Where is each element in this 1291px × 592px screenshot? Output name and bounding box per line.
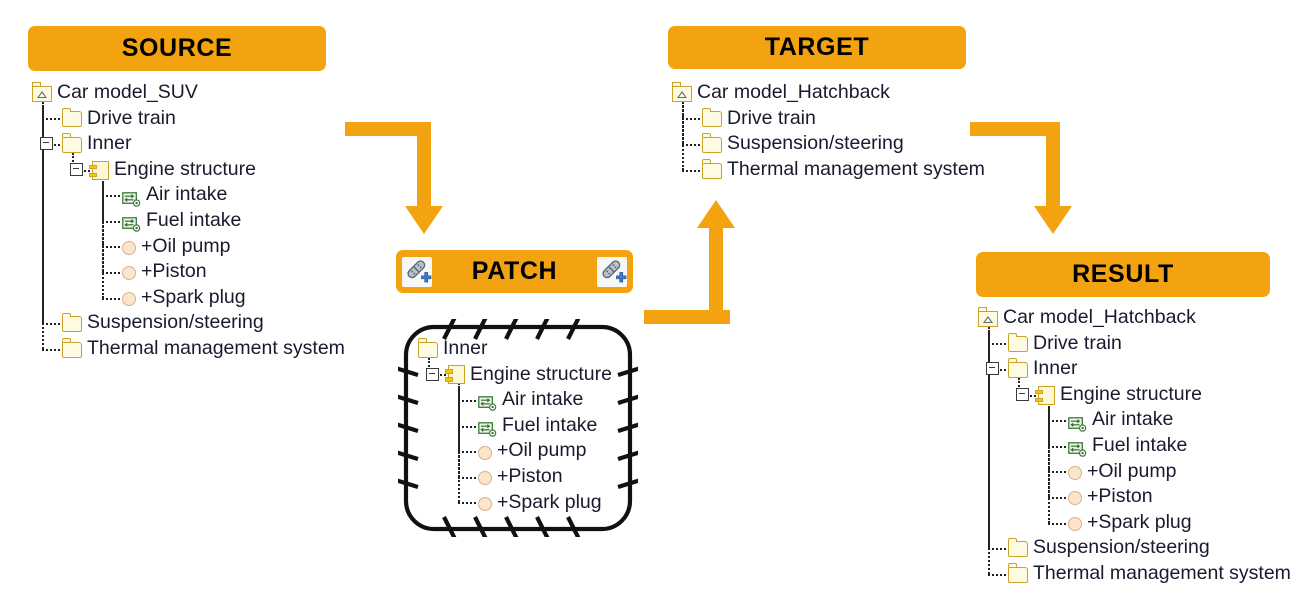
- tree-item-label: Car model_SUV: [57, 80, 198, 106]
- port-icon: [1068, 439, 1087, 454]
- target-banner: TARGET: [668, 26, 966, 69]
- arrow-patch-to-target: [644, 198, 754, 324]
- tree-item-label: Fuel intake: [1092, 433, 1187, 459]
- tree-item[interactable]: Inner: [32, 131, 345, 157]
- tree-item-label: Drive train: [87, 106, 176, 132]
- tree-item-label: Fuel intake: [146, 208, 241, 234]
- model-folder-icon: [978, 311, 998, 327]
- tree-item[interactable]: Engine structure: [978, 382, 1291, 408]
- tree-item[interactable]: Thermal management system: [978, 561, 1291, 587]
- tree-item[interactable]: +Piston: [978, 484, 1291, 510]
- tree-item-label: +Spark plug: [1087, 510, 1192, 536]
- collapse-expander-icon[interactable]: [986, 362, 999, 375]
- tree-item-label: +Piston: [497, 464, 563, 490]
- circle-icon: [478, 471, 492, 485]
- circle-icon: [1068, 466, 1082, 480]
- circle-icon: [1068, 491, 1082, 505]
- tree-item[interactable]: +Oil pump: [32, 234, 345, 260]
- folder-icon: [1008, 567, 1028, 583]
- circle-icon: [122, 292, 136, 306]
- target-tree: Car model_HatchbackDrive trainSuspension…: [672, 80, 985, 182]
- tree-item-label: Air intake: [1092, 407, 1173, 433]
- folder-icon: [62, 342, 82, 358]
- circle-icon: [1068, 517, 1082, 531]
- tree-item[interactable]: Suspension/steering: [978, 535, 1291, 561]
- tree-item[interactable]: +Piston: [32, 259, 345, 285]
- circle-icon: [122, 241, 136, 255]
- tree-item-label: +Spark plug: [497, 490, 602, 516]
- tree-item-label: Car model_Hatchback: [697, 80, 890, 106]
- tree-item-label: Thermal management system: [87, 336, 345, 362]
- tree-item-label: +Piston: [1087, 484, 1153, 510]
- target-banner-label: TARGET: [765, 33, 870, 62]
- tree-item-label: Engine structure: [470, 362, 612, 388]
- folder-icon: [418, 342, 438, 358]
- tree-item[interactable]: Engine structure: [418, 362, 612, 388]
- port-icon: [122, 214, 141, 229]
- tree-item-label: Inner: [1033, 356, 1077, 382]
- circle-icon: [478, 446, 492, 460]
- arrow-target-to-result: [970, 122, 1090, 242]
- component-icon: [1038, 386, 1055, 405]
- source-tree: Car model_SUVDrive trainInnerEngine stru…: [32, 80, 345, 362]
- tree-item[interactable]: Fuel intake: [978, 433, 1291, 459]
- patch-banner-label: PATCH: [472, 257, 557, 286]
- tree-item-label: Engine structure: [114, 157, 256, 183]
- tree-item[interactable]: Drive train: [672, 106, 985, 132]
- tree-item-label: Drive train: [727, 106, 816, 132]
- tree-item[interactable]: +Spark plug: [32, 285, 345, 311]
- tree-item[interactable]: Thermal management system: [672, 157, 985, 183]
- collapse-expander-icon[interactable]: [70, 163, 83, 176]
- folder-icon: [702, 137, 722, 153]
- tree-item[interactable]: +Oil pump: [978, 459, 1291, 485]
- source-banner-label: SOURCE: [122, 34, 233, 63]
- port-icon: [122, 189, 141, 204]
- port-icon: [1068, 414, 1087, 429]
- tree-item-label: Car model_Hatchback: [1003, 305, 1196, 331]
- tree-item-label: +Oil pump: [141, 234, 230, 260]
- tree-item[interactable]: Engine structure: [32, 157, 345, 183]
- collapse-expander-icon[interactable]: [426, 368, 439, 381]
- tree-item[interactable]: Fuel intake: [32, 208, 345, 234]
- patch-tree: InnerEngine structureAir intakeFuel inta…: [418, 336, 612, 515]
- tree-item[interactable]: Drive train: [32, 106, 345, 132]
- tree-item[interactable]: +Oil pump: [418, 438, 612, 464]
- tree-item[interactable]: Drive train: [978, 331, 1291, 357]
- tree-item[interactable]: Suspension/steering: [32, 310, 345, 336]
- tree-item-label: Suspension/steering: [727, 131, 904, 157]
- tree-item-label: Air intake: [502, 387, 583, 413]
- tree-item-label: Thermal management system: [1033, 561, 1291, 587]
- tree-item[interactable]: Suspension/steering: [672, 131, 985, 157]
- bandage-plus-icon-left: [402, 257, 432, 287]
- tree-item[interactable]: Car model_Hatchback: [978, 305, 1291, 331]
- tree-item[interactable]: Air intake: [32, 182, 345, 208]
- tree-item[interactable]: Air intake: [418, 387, 612, 413]
- arrow-source-to-patch: [345, 122, 455, 242]
- tree-item-label: Drive train: [1033, 331, 1122, 357]
- result-tree: Car model_HatchbackDrive trainInnerEngin…: [978, 305, 1291, 587]
- tree-item-label: +Spark plug: [141, 285, 246, 311]
- collapse-expander-icon[interactable]: [1016, 388, 1029, 401]
- model-folder-icon: [32, 86, 52, 102]
- tree-item-label: +Oil pump: [497, 438, 586, 464]
- tree-item-label: Thermal management system: [727, 157, 985, 183]
- folder-icon: [62, 316, 82, 332]
- model-folder-icon: [672, 86, 692, 102]
- tree-item[interactable]: Car model_Hatchback: [672, 80, 985, 106]
- tree-item[interactable]: Thermal management system: [32, 336, 345, 362]
- bandage-plus-icon-right: [597, 257, 627, 287]
- result-banner-label: RESULT: [1072, 260, 1174, 289]
- source-banner: SOURCE: [28, 26, 326, 71]
- tree-item-label: +Piston: [141, 259, 207, 285]
- patch-banner: PATCH: [396, 250, 633, 293]
- folder-icon: [702, 111, 722, 127]
- folder-icon: [62, 137, 82, 153]
- tree-item-label: Air intake: [146, 182, 227, 208]
- folder-icon: [702, 163, 722, 179]
- tree-item-label: Fuel intake: [502, 413, 597, 439]
- collapse-expander-icon[interactable]: [40, 137, 53, 150]
- tree-item[interactable]: +Spark plug: [978, 510, 1291, 536]
- circle-icon: [478, 497, 492, 511]
- tree-item-label: Engine structure: [1060, 382, 1202, 408]
- folder-icon: [1008, 541, 1028, 557]
- tree-item-label: +Oil pump: [1087, 459, 1176, 485]
- result-banner: RESULT: [976, 252, 1270, 297]
- circle-icon: [122, 266, 136, 280]
- tree-item-label: Inner: [443, 336, 487, 362]
- tree-item[interactable]: +Spark plug: [418, 490, 612, 516]
- tree-item[interactable]: Air intake: [978, 407, 1291, 433]
- tree-item-label: Inner: [87, 131, 131, 157]
- component-icon: [448, 365, 465, 384]
- port-icon: [478, 419, 497, 434]
- tree-item[interactable]: Inner: [978, 356, 1291, 382]
- tree-item-label: Suspension/steering: [1033, 535, 1210, 561]
- tree-item[interactable]: Car model_SUV: [32, 80, 345, 106]
- component-icon: [92, 161, 109, 180]
- tree-item[interactable]: Inner: [418, 336, 612, 362]
- tree-item[interactable]: +Piston: [418, 464, 612, 490]
- folder-icon: [62, 111, 82, 127]
- tree-item-label: Suspension/steering: [87, 310, 264, 336]
- tree-item[interactable]: Fuel intake: [418, 413, 612, 439]
- folder-icon: [1008, 336, 1028, 352]
- port-icon: [478, 393, 497, 408]
- diagram-canvas: SOURCE Car model_SUVDrive trainInnerEngi…: [0, 0, 1291, 592]
- folder-icon: [1008, 362, 1028, 378]
